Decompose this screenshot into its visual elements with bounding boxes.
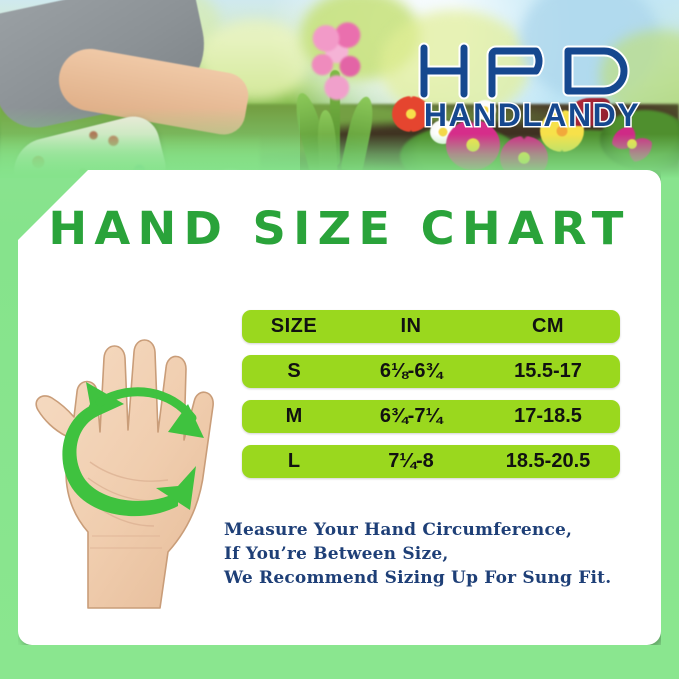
cell-in: 7¼-8	[346, 450, 476, 473]
note-line-1: Measure Your Hand Circumference,	[224, 518, 654, 542]
cell-size: M	[242, 405, 346, 428]
hyacinth-flower-icon	[308, 22, 368, 104]
column-header-cm: CM	[476, 315, 620, 338]
column-header-size: SIZE	[242, 315, 346, 338]
note-line-2: If You’re Between Size,	[224, 542, 654, 566]
cell-in: 6⅛-6¾	[346, 360, 476, 383]
cell-in: 6¾-7¼	[346, 405, 476, 428]
cell-size: L	[242, 450, 346, 473]
banner-bottom-fade-left	[0, 108, 300, 178]
cell-cm: 17-18.5	[476, 405, 620, 428]
handlandy-monogram-icon	[418, 40, 646, 102]
hand-size-chart-infographic: HANDLANDY HAND SIZE CHART	[0, 0, 679, 679]
hand-circumference-icon	[28, 320, 243, 610]
cell-cm: 18.5-20.5	[476, 450, 620, 473]
hand-silhouette	[36, 340, 213, 608]
table-header-row: SIZE IN CM	[242, 310, 620, 343]
hand-circumference-diagram	[28, 320, 243, 610]
brand-logo: HANDLANDY	[418, 40, 646, 140]
column-header-in: IN	[346, 315, 476, 338]
size-chart-card: HAND SIZE CHART	[18, 170, 661, 645]
size-table: SIZE IN CM S 6⅛-6¾ 15.5-17 M 6¾-7¼ 17-18…	[242, 310, 620, 478]
cell-cm: 15.5-17	[476, 360, 620, 383]
table-row: S 6⅛-6¾ 15.5-17	[242, 355, 620, 388]
cell-size: S	[242, 360, 346, 383]
page-title: HAND SIZE CHART	[8, 202, 670, 255]
table-row: L 7¼-8 18.5-20.5	[242, 445, 620, 478]
table-row: M 6¾-7¼ 17-18.5	[242, 400, 620, 433]
measurement-note: Measure Your Hand Circumference, If You’…	[224, 518, 654, 590]
brand-wordmark: HANDLANDY	[418, 98, 646, 132]
note-line-3: We Recommend Sizing Up For Sung Fit.	[224, 566, 654, 590]
